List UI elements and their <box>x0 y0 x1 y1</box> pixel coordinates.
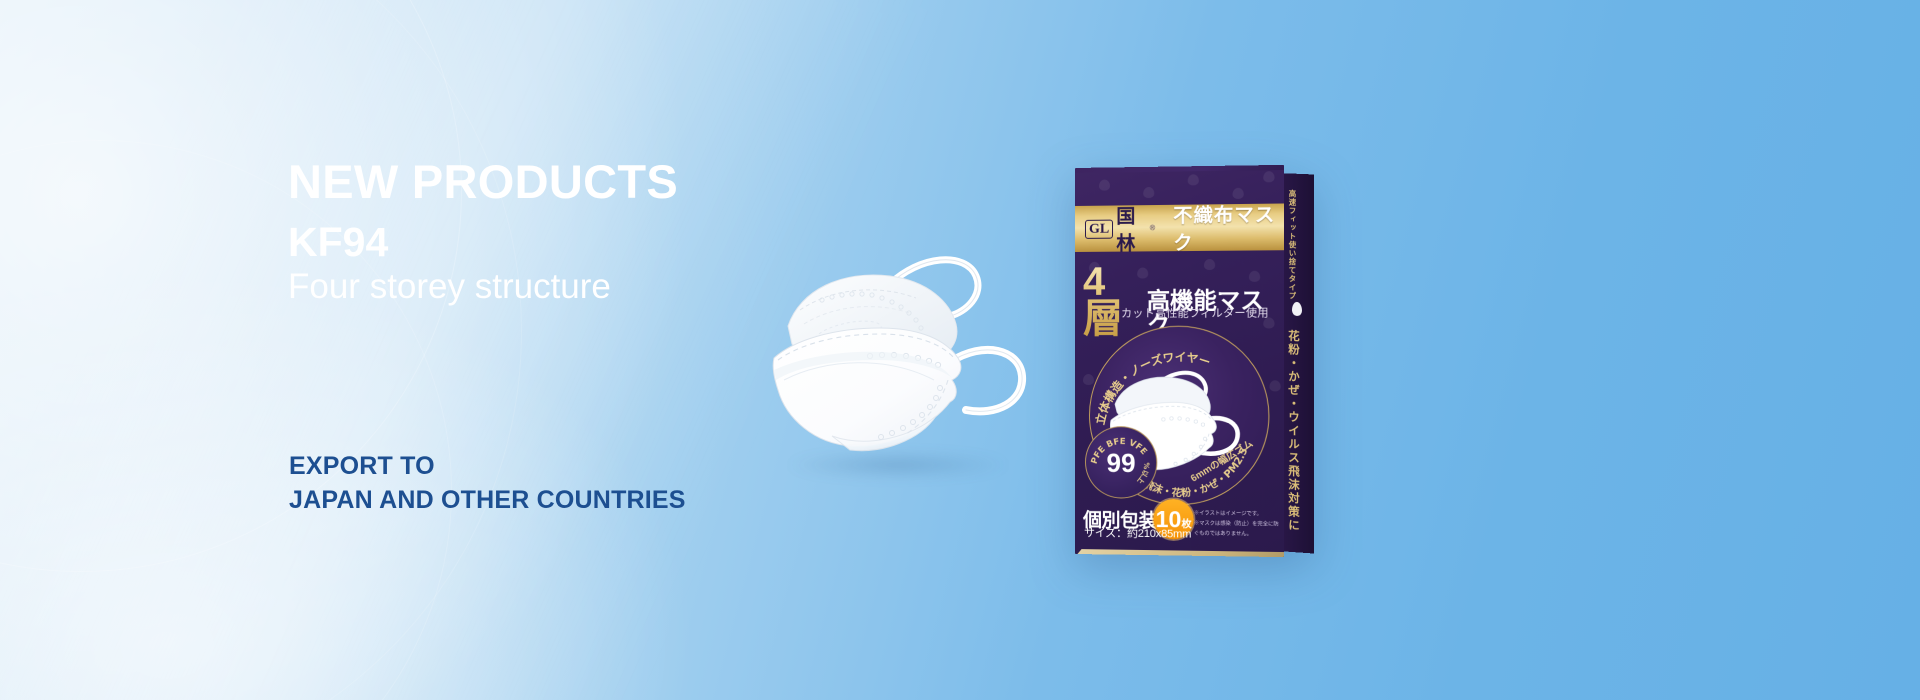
package-bottom-edge <box>1075 549 1284 557</box>
package-brand-band: GL 国林 ® 不織布マスク <box>1075 203 1284 252</box>
package-filter-note: カット高性能フィルター使用 <box>1121 304 1269 321</box>
registered-icon: ® <box>1150 225 1155 232</box>
svg-text:%以上: %以上 <box>1135 462 1150 486</box>
brand-name: 国林 <box>1116 201 1147 256</box>
spine-petal-icon <box>1292 302 1302 317</box>
hero-mask-image <box>770 240 1040 490</box>
fine-print-line-2: ※マスクは感染（防止）を完全に防ぐものではありません。 <box>1194 519 1282 540</box>
product-package-box: 高速フィット使い捨てタイプ 花粉・かぜ・ウイルス飛沫対策に GL <box>1075 168 1325 558</box>
export-block: EXPORT TO JAPAN AND OTHER COUNTRIES <box>289 450 686 517</box>
filtration-badge: PFE BFE VFE %以上 99 <box>1085 426 1157 499</box>
spine-top-text: 高速フィット使い捨てタイプ <box>1287 189 1298 300</box>
package-front-face: GL 国林 ® 不織布マスク 4層 高機能マスク カット高性能フィルター使用 立… <box>1075 165 1284 557</box>
spine-bottom-text: 花粉・かぜ・ウイルス飛沫対策に <box>1285 329 1301 533</box>
package-fine-print: ※イラストはイメージです。 ※マスクは感染（防止）を完全に防ぐものではありません… <box>1194 509 1282 540</box>
page-title: NEW PRODUCTS <box>288 158 1048 207</box>
export-line-2: JAPAN AND OTHER COUNTRIES <box>289 484 686 518</box>
package-band-text: 不織布マスク <box>1173 199 1284 255</box>
product-banner: NEW PRODUCTS KF94 Four storey structure … <box>0 0 1920 700</box>
package-size-label: サイズ：約210x85mm <box>1084 524 1191 542</box>
export-line-1: EXPORT TO <box>289 450 686 484</box>
brand-mark: GL <box>1085 219 1113 238</box>
badge-value: 99 <box>1107 448 1136 479</box>
brand-logo: GL 国林 ® <box>1085 201 1155 256</box>
mask-shadow <box>788 452 1008 478</box>
